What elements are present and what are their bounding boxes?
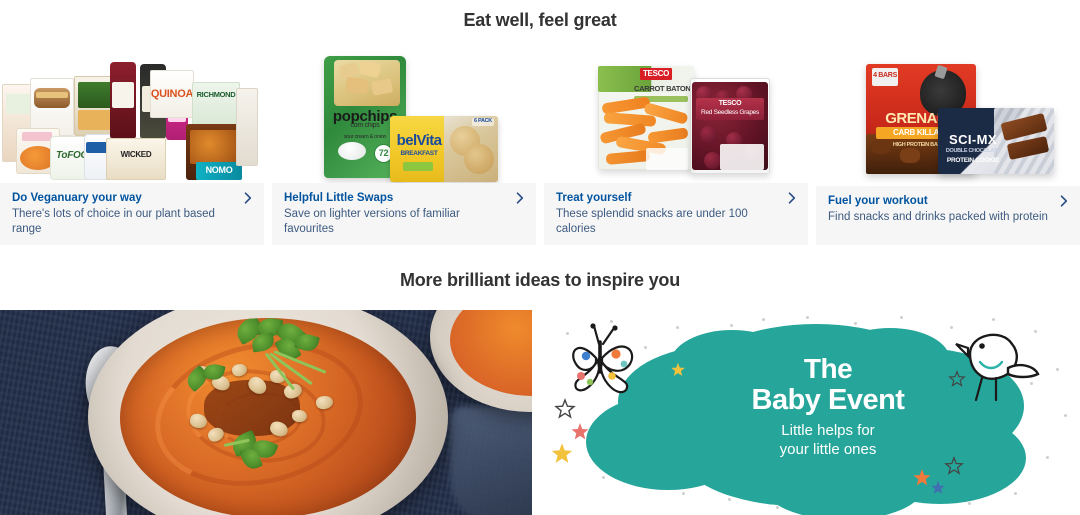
card-body-veganuary: Do Veganuary your way There's lots of ch… bbox=[0, 183, 264, 245]
soup-liquid bbox=[120, 318, 416, 515]
card-subtitle-helpful-little-swaps: Save on lighter versions of familiar fav… bbox=[284, 207, 510, 237]
product-label-nomo: NOMO bbox=[196, 165, 242, 175]
product-desc-scimx: DOUBLE CHOCOLATE bbox=[938, 148, 1008, 154]
product-label-carrot-batons: CARROT BATONS bbox=[634, 84, 690, 93]
product-label-richmond: RICHMOND bbox=[192, 90, 240, 99]
baby-event-panel[interactable]: The Baby Event Little helps for your lit… bbox=[548, 310, 1080, 515]
promo-card-fuel-your-workout[interactable]: 4 BARS GRENADE CARB KILLA HIGH PROTEIN B… bbox=[816, 48, 1080, 245]
baby-event-line-1: The bbox=[698, 354, 958, 384]
card-image-helpful-little-swaps: popchips corn chips sour cream & onion 7… bbox=[272, 48, 536, 183]
card-image-treat-yourself: TESCO CARROT BATONS bbox=[544, 48, 808, 183]
star-icon bbox=[930, 480, 946, 496]
card-body-fuel-your-workout: Fuel your workout Find snacks and drinks… bbox=[816, 186, 1080, 245]
star-outline-icon bbox=[944, 456, 964, 476]
promo-card-treat-yourself[interactable]: TESCO CARROT BATONS bbox=[544, 48, 808, 245]
section-heading-eat-well: Eat well, feel great bbox=[0, 8, 1080, 32]
star-icon bbox=[912, 468, 932, 488]
butterfly-icon bbox=[566, 324, 642, 394]
product-label-belvita: belVita bbox=[390, 132, 448, 149]
product-sublabel-belvita: BREAKFAST bbox=[390, 150, 448, 157]
inspiration-row: The Baby Event Little helps for your lit… bbox=[0, 310, 1080, 515]
card-body-treat-yourself: Treat yourself These splendid snacks are… bbox=[544, 183, 808, 245]
product-badge-value-grenade: 4 BARS bbox=[872, 72, 898, 79]
product-label-wicked-1: WICKED bbox=[106, 150, 166, 159]
card-subtitle-treat-yourself: These splendid snacks are under 100 calo… bbox=[556, 207, 782, 237]
card-title-treat-yourself: Treat yourself bbox=[556, 191, 782, 206]
promo-card-row: ToFOO WICKED QUINOA RICHMOND bbox=[0, 48, 1080, 245]
section-heading-more-ideas: More brilliant ideas to inspire you bbox=[0, 268, 1080, 292]
promo-card-veganuary[interactable]: ToFOO WICKED QUINOA RICHMOND bbox=[0, 48, 264, 245]
card-image-veganuary: ToFOO WICKED QUINOA RICHMOND bbox=[0, 48, 264, 183]
card-title-fuel-your-workout: Fuel your workout bbox=[828, 194, 1054, 209]
product-sublabel-scimx: PROTEIN COOKIE bbox=[938, 157, 1008, 164]
product-brand-carrot-batons: TESCO bbox=[640, 69, 672, 78]
promo-page: Eat well, feel great ToFOO bbox=[0, 0, 1080, 515]
baby-event-tagline-2: your little ones bbox=[698, 440, 958, 459]
soup-bowl bbox=[88, 310, 448, 515]
background-pot bbox=[450, 406, 532, 515]
recipe-soup-panel[interactable] bbox=[0, 310, 532, 515]
star-outline-icon bbox=[554, 398, 576, 420]
product-label-scimx: SCI-MX bbox=[938, 132, 1008, 147]
product-pack-belvita: 6 PACK bbox=[470, 118, 496, 124]
chevron-right-icon[interactable] bbox=[1058, 195, 1070, 207]
card-title-helpful-little-swaps: Helpful Little Swaps bbox=[284, 191, 510, 206]
product-label-grapes: Red Seedless Grapes bbox=[696, 109, 764, 116]
star-icon bbox=[570, 422, 590, 442]
baby-event-line-2: Baby Event bbox=[698, 384, 958, 417]
chevron-right-icon[interactable] bbox=[786, 192, 798, 204]
card-subtitle-veganuary: There's lots of choice in our plant base… bbox=[12, 207, 238, 237]
chevron-right-icon[interactable] bbox=[514, 192, 526, 204]
star-icon bbox=[550, 442, 574, 466]
bird-icon bbox=[946, 322, 1042, 404]
product-brand-grapes: TESCO bbox=[696, 100, 764, 107]
promo-card-helpful-little-swaps[interactable]: popchips corn chips sour cream & onion 7… bbox=[272, 48, 536, 245]
card-subtitle-fuel-your-workout: Find snacks and drinks packed with prote… bbox=[828, 210, 1054, 225]
card-image-fuel-your-workout: 4 BARS GRENADE CARB KILLA HIGH PROTEIN B… bbox=[816, 48, 1080, 186]
card-body-helpful-little-swaps: Helpful Little Swaps Save on lighter ver… bbox=[272, 183, 536, 245]
baby-event-text: The Baby Event Little helps for your lit… bbox=[698, 354, 958, 459]
card-title-veganuary: Do Veganuary your way bbox=[12, 191, 238, 206]
baby-event-tagline-1: Little helps for bbox=[698, 421, 958, 440]
star-icon bbox=[670, 362, 686, 378]
product-label-quinoa: QUINOA bbox=[150, 88, 194, 100]
chevron-right-icon[interactable] bbox=[242, 192, 254, 204]
